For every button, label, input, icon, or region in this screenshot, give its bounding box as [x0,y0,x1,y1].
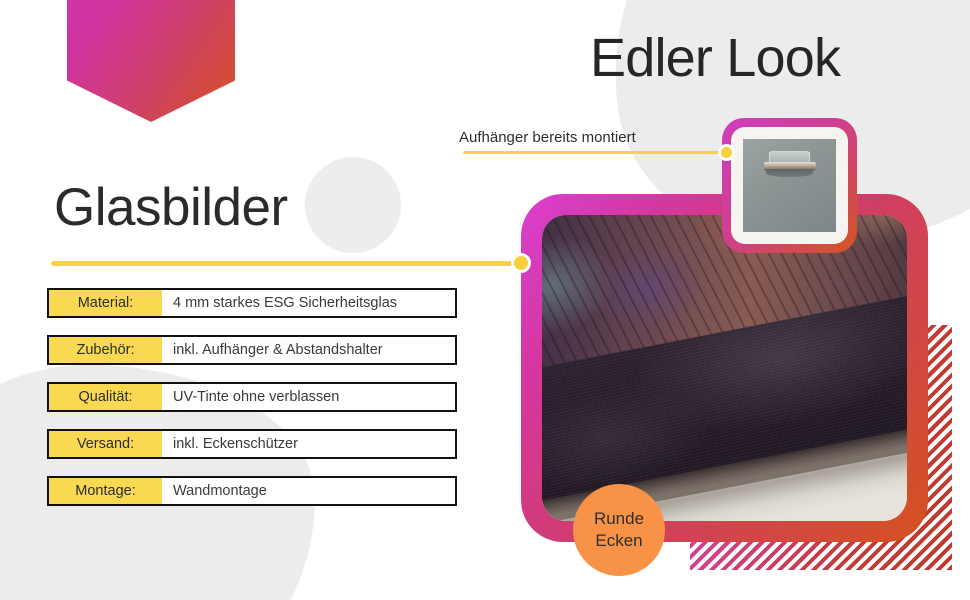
table-row: Zubehör: inkl. Aufhänger & Abstandshalte… [47,335,457,365]
spec-value-versand: inkl. Eckenschützer [162,431,455,457]
glasbilder-infographic: Edler Look Glasbilder Material: 4 mm sta… [0,0,970,600]
table-row: Qualität: UV-Tinte ohne verblassen [47,382,457,412]
mounted-hanger-closeup [743,139,836,232]
title-connector-dot-icon [511,253,531,273]
spec-value-material: 4 mm starkes ESG Sicherheitsglas [162,290,455,316]
status-badge-runde-ecken: Runde Ecken [573,484,665,576]
tagline-edler-look: Edler Look [590,27,840,89]
glass-panel-slab [542,215,907,521]
hanger-inset-matte [731,127,848,244]
title-connector-line [51,261,517,266]
spec-label-versand: Versand: [49,431,162,457]
callout-label-hanger: Aufhänger bereits montiert [459,129,636,146]
glass-print-corner-photo [542,215,907,521]
table-row: Versand: inkl. Eckenschützer [47,429,457,459]
callout-connector-line [463,151,726,154]
spec-value-zubehoer: inkl. Aufhänger & Abstandshalter [162,337,455,363]
callout-connector-dot-icon [718,144,735,161]
badge-line-2: Ecken [595,530,642,552]
spec-value-montage: Wandmontage [162,478,455,504]
hanger-bracket-icon [763,151,815,175]
table-row: Material: 4 mm starkes ESG Sicherheitsgl… [47,288,457,318]
page-title: Glasbilder [54,177,288,238]
spec-label-zubehoer: Zubehör: [49,337,162,363]
specification-table: Material: 4 mm starkes ESG Sicherheitsgl… [47,288,457,523]
shield-badge-icon [67,0,235,122]
hanger-inset-card [722,118,857,253]
background-circle-behind-title [305,157,401,253]
spec-label-qualitaet: Qualität: [49,384,162,410]
table-row: Montage: Wandmontage [47,476,457,506]
bracket-base [766,169,814,177]
spec-value-qualitaet: UV-Tinte ohne verblassen [162,384,455,410]
spec-label-montage: Montage: [49,478,162,504]
product-photo-frame [521,194,928,542]
spec-label-material: Material: [49,290,162,316]
badge-line-1: Runde [594,508,644,530]
